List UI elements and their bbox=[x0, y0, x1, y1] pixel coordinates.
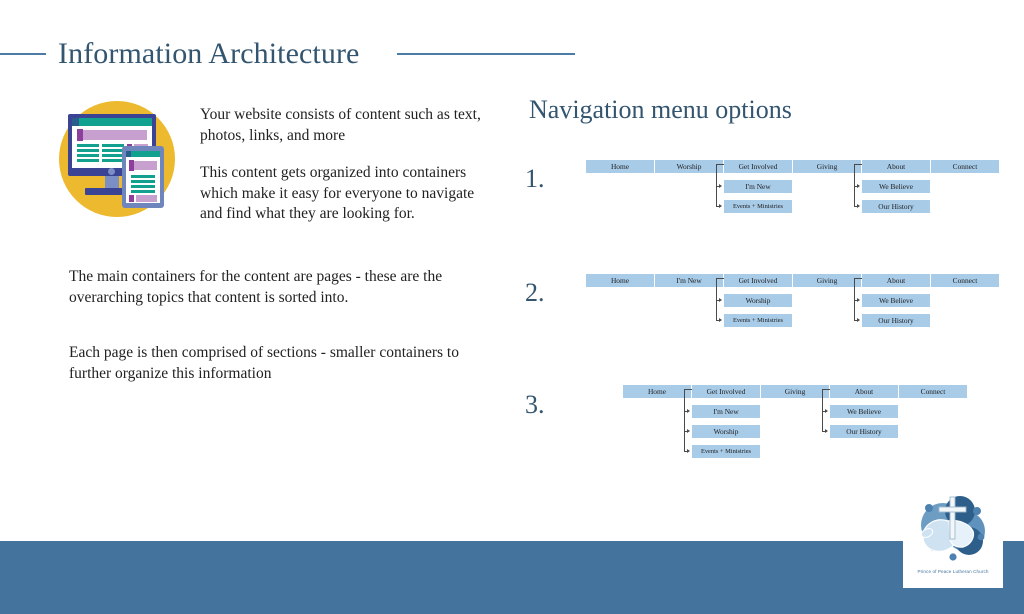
tablet-topbar-accent bbox=[126, 151, 131, 157]
screen-topbar-accent bbox=[72, 118, 79, 126]
nav-subitem-our-history[interactable]: Our History bbox=[862, 314, 930, 327]
tree-connector-arrowhead bbox=[857, 318, 860, 322]
nav-item-worship[interactable]: Worship bbox=[655, 160, 723, 173]
tree-connector-vertical bbox=[716, 278, 717, 320]
nav-subitem-i-m-new[interactable]: I'm New bbox=[724, 180, 792, 193]
cross-and-dove-logo bbox=[903, 491, 1003, 569]
nav-option-diagram-1: HomeWorshipGet InvolvedI'm NewEvents + M… bbox=[0, 160, 1024, 230]
nav-item-home[interactable]: Home bbox=[623, 385, 691, 398]
nav-subitem-i-m-new[interactable]: I'm New bbox=[692, 405, 760, 418]
nav-subitem-our-history[interactable]: Our History bbox=[862, 200, 930, 213]
tree-connector-arrowhead bbox=[719, 184, 722, 188]
footer-bar bbox=[0, 541, 1024, 614]
nav-item-get-involved[interactable]: Get Involved bbox=[724, 274, 792, 287]
nav-item-home[interactable]: Home bbox=[586, 274, 654, 287]
tree-connector-arrowhead bbox=[857, 298, 860, 302]
nav-item-get-involved[interactable]: Get Involved bbox=[692, 385, 760, 398]
nav-item-giving[interactable]: Giving bbox=[793, 160, 861, 173]
tree-connector-arrowhead bbox=[857, 204, 860, 208]
title-rule-right bbox=[397, 53, 575, 55]
body-paragraph-1: Your website consists of content such as… bbox=[200, 105, 490, 146]
page-title: Information Architecture bbox=[58, 34, 359, 74]
screen-hero-tab bbox=[77, 129, 83, 141]
nav-item-giving[interactable]: Giving bbox=[761, 385, 829, 398]
tree-connector-arrowhead bbox=[719, 298, 722, 302]
nav-subitem-we-believe[interactable]: We Believe bbox=[862, 180, 930, 193]
nav-item-about[interactable]: About bbox=[830, 385, 898, 398]
tree-connector-vertical bbox=[822, 389, 823, 431]
logo-caption: Prince of Peace Lutheran Church bbox=[903, 569, 1003, 574]
tree-connector-arrowhead bbox=[687, 409, 690, 413]
tree-connector-arrowhead bbox=[719, 318, 722, 322]
nav-subitem-worship[interactable]: Worship bbox=[692, 425, 760, 438]
nav-item-connect[interactable]: Connect bbox=[931, 160, 999, 173]
nav-subitem-events-ministries[interactable]: Events + Ministries bbox=[724, 314, 792, 327]
nav-option-diagram-3: HomeGet InvolvedI'm NewWorshipEvents + M… bbox=[0, 385, 1024, 470]
nav-item-get-involved[interactable]: Get Involved bbox=[724, 160, 792, 173]
tree-connector-arrowhead bbox=[825, 409, 828, 413]
tree-connector-stub bbox=[822, 389, 830, 390]
nav-subitem-we-believe[interactable]: We Believe bbox=[830, 405, 898, 418]
nav-subitem-events-ministries[interactable]: Events + Ministries bbox=[692, 445, 760, 458]
nav-subitem-events-ministries[interactable]: Events + Ministries bbox=[724, 200, 792, 213]
nav-option-diagram-2: HomeI'm NewGet InvolvedWorshipEvents + M… bbox=[0, 274, 1024, 344]
nav-item-connect[interactable]: Connect bbox=[899, 385, 967, 398]
tree-connector-stub bbox=[854, 164, 862, 165]
nav-subitem-worship[interactable]: Worship bbox=[724, 294, 792, 307]
tree-connector-arrowhead bbox=[687, 449, 690, 453]
nav-item-i-m-new[interactable]: I'm New bbox=[655, 274, 723, 287]
nav-item-giving[interactable]: Giving bbox=[793, 274, 861, 287]
tree-connector-vertical bbox=[684, 389, 685, 451]
screen-hero-block bbox=[77, 130, 147, 140]
nav-item-about[interactable]: About bbox=[862, 274, 930, 287]
tree-connector-stub bbox=[716, 164, 724, 165]
tree-connector-vertical bbox=[854, 278, 855, 320]
tree-connector-stub bbox=[716, 278, 724, 279]
tree-connector-arrowhead bbox=[719, 204, 722, 208]
slide-title-row: Information Architecture bbox=[0, 34, 1024, 76]
title-rule-left bbox=[0, 53, 46, 55]
screen-topbar bbox=[72, 118, 152, 126]
tablet-topbar bbox=[126, 151, 160, 157]
nav-item-home[interactable]: Home bbox=[586, 160, 654, 173]
nav-subitem-we-believe[interactable]: We Believe bbox=[862, 294, 930, 307]
logo-panel: Prince of Peace Lutheran Church bbox=[903, 491, 1003, 588]
nav-item-connect[interactable]: Connect bbox=[931, 274, 999, 287]
nav-subitem-our-history[interactable]: Our History bbox=[830, 425, 898, 438]
nav-options-heading: Navigation menu options bbox=[529, 92, 792, 128]
tree-connector-stub bbox=[684, 389, 692, 390]
tree-connector-arrowhead bbox=[825, 429, 828, 433]
body-paragraph-4: Each page is then comprised of sections … bbox=[69, 343, 489, 384]
nav-item-about[interactable]: About bbox=[862, 160, 930, 173]
tree-connector-arrowhead bbox=[687, 429, 690, 433]
tree-connector-vertical bbox=[716, 164, 717, 206]
tree-connector-stub bbox=[854, 278, 862, 279]
tree-connector-vertical bbox=[854, 164, 855, 206]
tree-connector-arrowhead bbox=[857, 184, 860, 188]
